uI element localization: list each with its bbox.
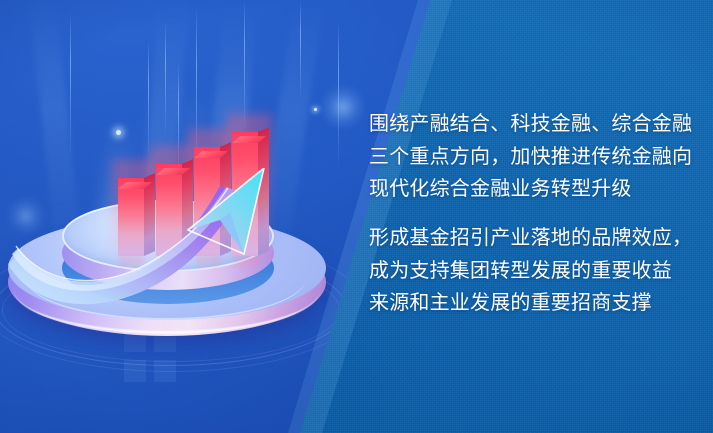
paragraph-one-line-1: 围绕产融结合、科技金融、综合金融 xyxy=(369,108,692,141)
paragraph-one-line-2: 三个重点方向，加快推进传统金融向 xyxy=(369,141,692,174)
paragraph-two-line-1: 形成基金招引产业落地的品牌效应， xyxy=(369,222,692,255)
paragraph-one: 围绕产融结合、科技金融、综合金融 三个重点方向，加快推进传统金融向 现代化综合金… xyxy=(369,108,692,206)
banner-canvas: 围绕产融结合、科技金融、综合金融 三个重点方向，加快推进传统金融向 现代化综合金… xyxy=(0,0,713,433)
copy-block: 围绕产融结合、科技金融、综合金融 三个重点方向，加快推进传统金融向 现代化综合金… xyxy=(369,0,699,433)
paragraph-two-line-3: 来源和主业发展的重要招商支撑 xyxy=(369,287,692,320)
paragraph-one-line-3: 现代化综合金融业务转型升级 xyxy=(369,173,692,206)
paragraph-two-line-2: 成为支持集团转型发展的重要收益 xyxy=(369,255,692,288)
paragraph-two: 形成基金招引产业落地的品牌效应， 成为支持集团转型发展的重要收益 来源和主业发展… xyxy=(369,222,692,320)
